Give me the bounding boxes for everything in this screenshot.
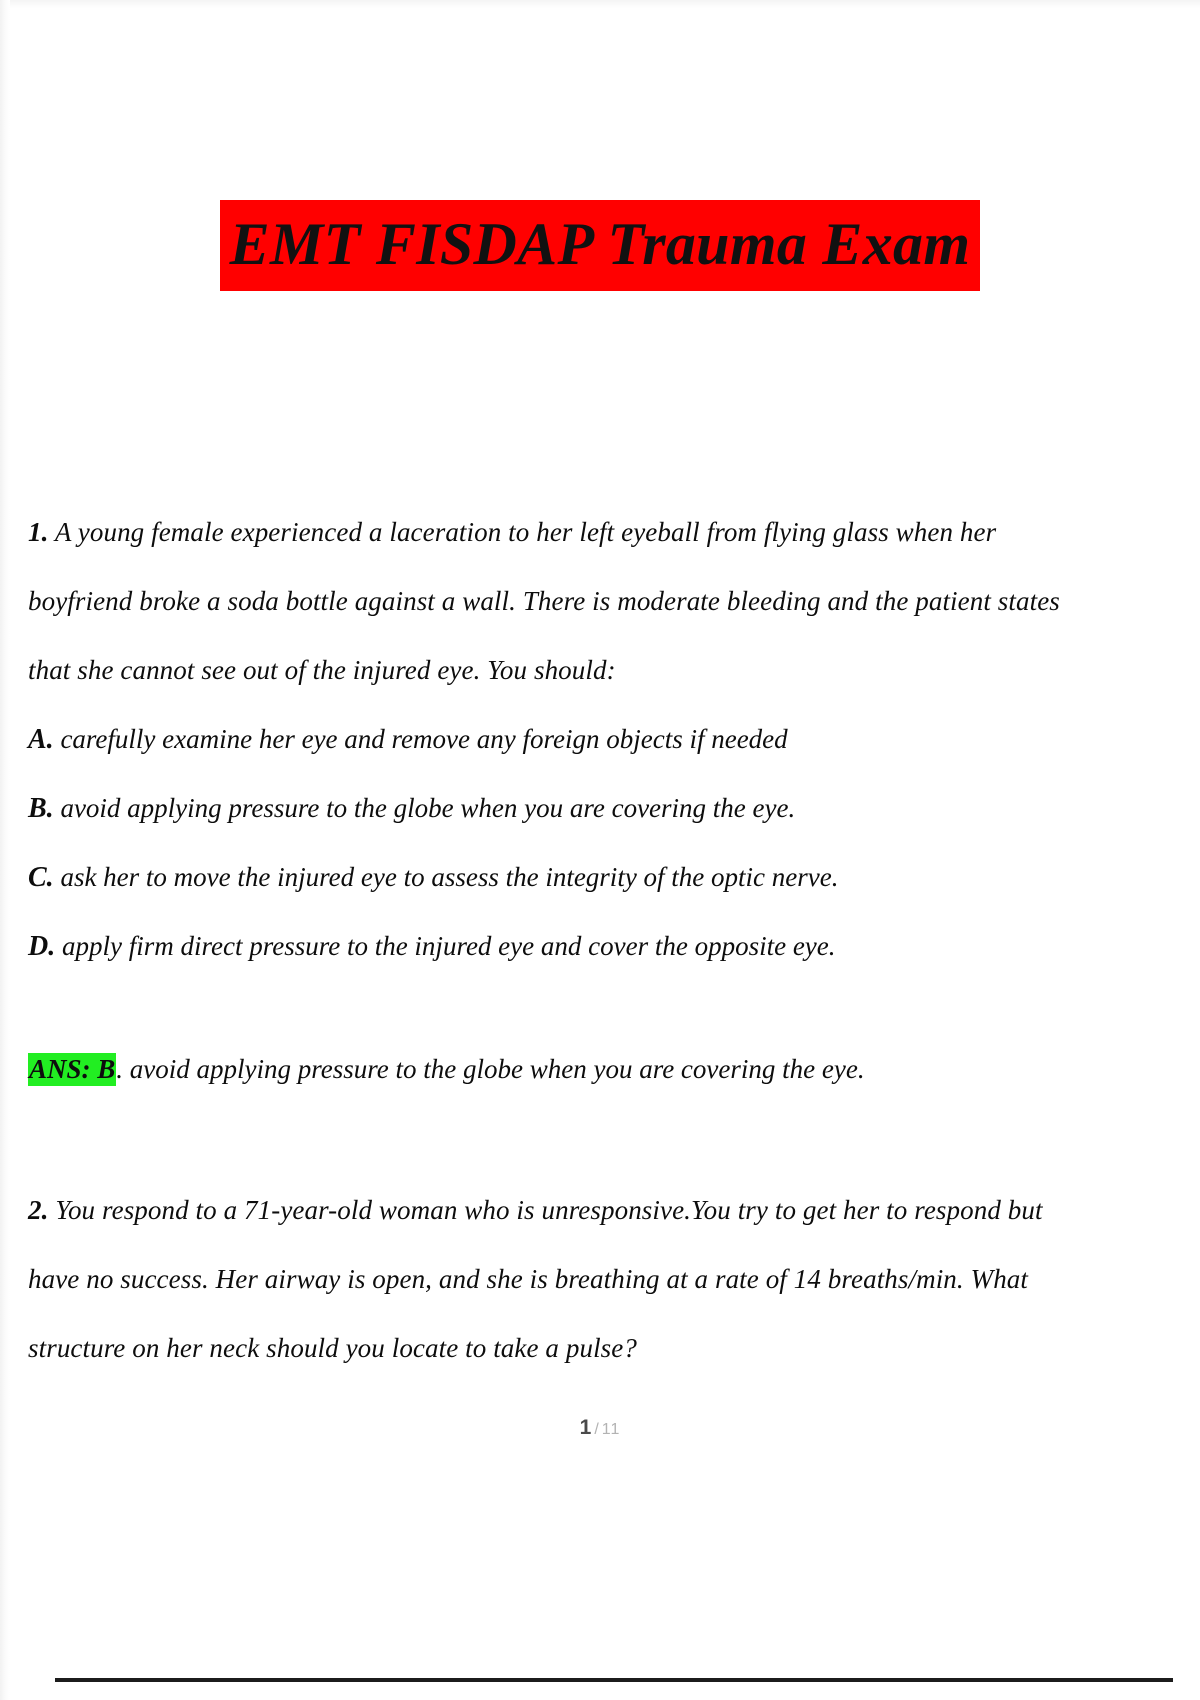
document-title: EMT FISDAP Trauma Exam — [220, 200, 981, 291]
page-indicator: 1/11 — [0, 1416, 1200, 1440]
page-separator: / — [591, 1421, 601, 1438]
page-edge-shadow-top — [0, 0, 1200, 8]
page-bottom-rule — [55, 1678, 1173, 1682]
question-1-answer: ANS: B. avoid applying pressure to the g… — [28, 1035, 1072, 1104]
document-body: 1. A young female experienced a lacerati… — [28, 498, 1072, 1383]
question-gap — [28, 1104, 1072, 1176]
question-1-option-c: C. ask her to move the injured eye to as… — [28, 843, 1072, 912]
question-2-stem-text: You respond to a 71-year-old woman who i… — [28, 1195, 1043, 1363]
option-a-text: carefully examine her eye and remove any… — [60, 724, 787, 754]
option-d-letter: D. — [28, 931, 55, 962]
question-1-option-a: A. carefully examine her eye and remove … — [28, 705, 1072, 774]
question-1-option-b: B. avoid applying pressure to the globe … — [28, 774, 1072, 843]
option-b-text: avoid applying pressure to the globe whe… — [60, 793, 795, 823]
question-2-number: 2. — [28, 1195, 48, 1225]
answer-spacer — [28, 981, 1072, 1035]
option-d-text: apply firm direct pressure to the injure… — [62, 931, 836, 961]
option-a-letter: A. — [28, 724, 54, 755]
question-1-stem-text: A young female experienced a laceration … — [28, 517, 1060, 685]
document-page: EMT FISDAP Trauma Exam 1. A young female… — [0, 0, 1200, 1700]
question-2-stem: 2. You respond to a 71-year-old woman wh… — [28, 1176, 1072, 1383]
option-b-letter: B. — [28, 793, 54, 824]
question-1-stem: 1. A young female experienced a lacerati… — [28, 498, 1072, 705]
question-block-2: 2. You respond to a 71-year-old woman wh… — [28, 1176, 1072, 1383]
question-1-option-d: D. apply firm direct pressure to the inj… — [28, 912, 1072, 981]
answer-key-badge: ANS: B — [28, 1053, 116, 1086]
option-c-letter: C. — [28, 862, 54, 893]
answer-key-text: . avoid applying pressure to the globe w… — [116, 1054, 864, 1084]
question-1-number: 1. — [28, 517, 48, 547]
document-title-block: EMT FISDAP Trauma Exam — [0, 200, 1200, 291]
option-c-text: ask her to move the injured eye to asses… — [60, 862, 838, 892]
total-page-count: 11 — [602, 1421, 621, 1438]
current-page-number: 1 — [580, 1416, 592, 1439]
question-block-1: 1. A young female experienced a lacerati… — [28, 498, 1072, 1104]
